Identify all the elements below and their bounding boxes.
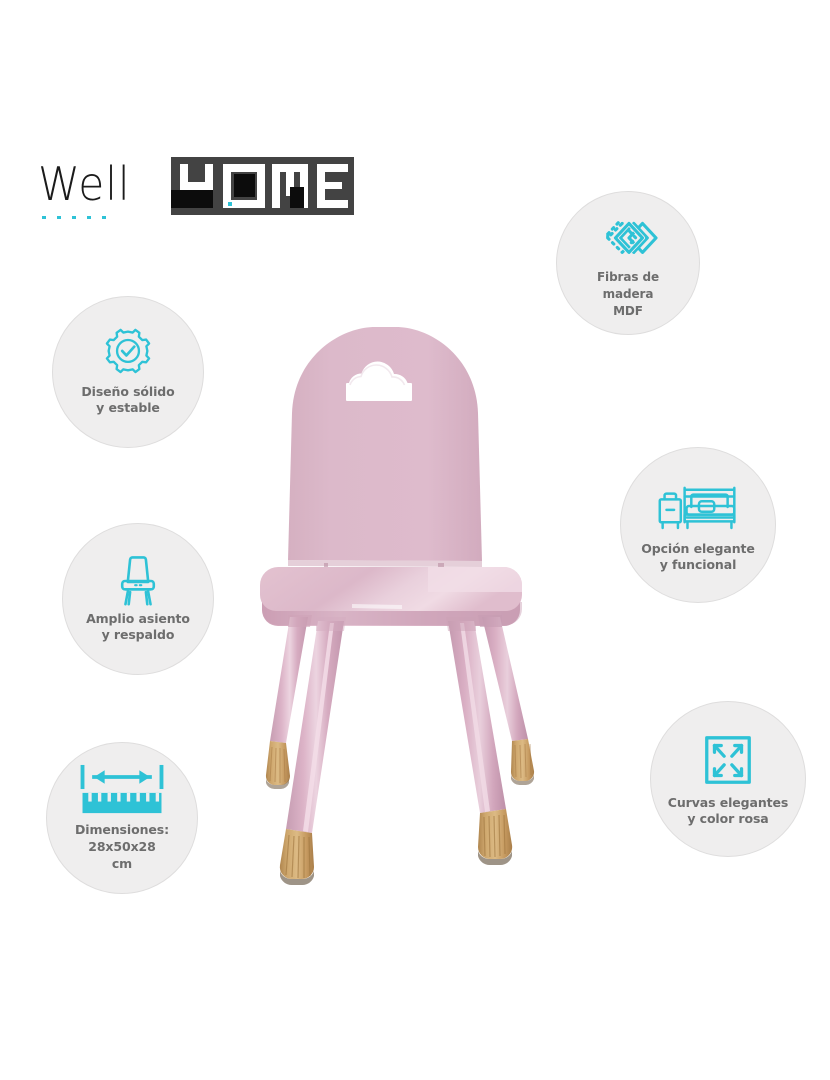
gear-check-icon	[99, 329, 157, 379]
badge-opcion-elegante[interactable]: Opción elegante y funcional	[620, 447, 776, 603]
badge-curvas-elegantes[interactable]: Curvas elegantes y color rosa	[650, 701, 806, 857]
product-image-pink-chair	[232, 305, 600, 895]
brand-logo: Well	[38, 156, 358, 232]
chair-backrest	[288, 327, 482, 569]
bed-nightstand-icon	[655, 478, 741, 536]
badge-label: Dimensiones: 28x50x28 cm	[75, 821, 169, 872]
badge-label: Fibras de madera MDF	[597, 269, 659, 320]
badge-amplio-asiento[interactable]: Amplio asiento y respaldo	[62, 523, 214, 675]
logo-well-wordmark: Well	[38, 158, 170, 216]
badge-label: Diseño sólido y estable	[81, 384, 174, 416]
ruler-measure-icon	[76, 764, 168, 816]
chair-legs	[266, 617, 534, 885]
logo-accent-dots	[42, 216, 106, 219]
badge-label: Curvas elegantes y color rosa	[668, 795, 788, 827]
logo-well-text: Well	[38, 158, 159, 210]
logo-tail-dot	[228, 202, 232, 206]
badge-label: Amplio asiento y respaldo	[86, 611, 190, 643]
badge-diseno-solido[interactable]: Diseño sólido y estable	[52, 296, 204, 448]
badge-label: Opción elegante y funcional	[641, 541, 755, 573]
logo-home-wordmark	[171, 157, 354, 215]
product-infographic: Well	[0, 0, 830, 1080]
expand-arrows-square-icon	[697, 732, 759, 790]
chair-icon	[109, 556, 167, 606]
stacked-wood-panels-icon	[597, 206, 659, 264]
logo-home-glyphs	[171, 157, 354, 215]
badge-dimensiones[interactable]: Dimensiones: 28x50x28 cm	[46, 742, 198, 894]
